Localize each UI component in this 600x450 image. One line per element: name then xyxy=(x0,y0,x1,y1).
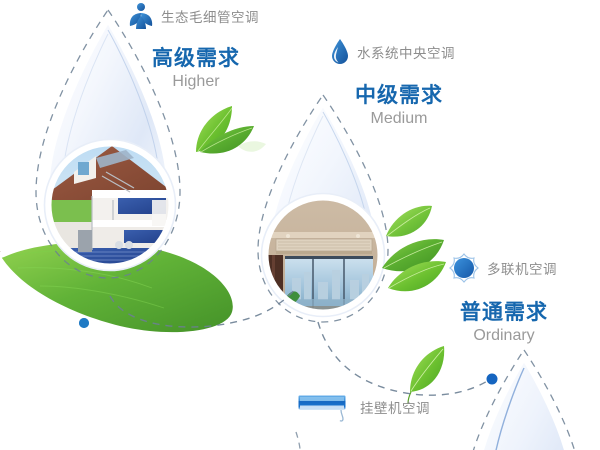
green-leaf-pair xyxy=(196,106,266,154)
tier-medium: 中级需求 Medium xyxy=(355,85,443,127)
product-capillary-label: 生态毛细管空调 xyxy=(161,6,259,26)
product-capillary[interactable]: 生态毛细管空调 xyxy=(128,2,259,30)
water-drop-icon xyxy=(330,38,350,65)
drop-ordinary[interactable] xyxy=(466,350,582,450)
product-water-system[interactable]: 水系统中央空调 xyxy=(330,38,455,65)
tier-higher-cn: 高级需求 xyxy=(152,48,240,69)
tier-ordinary-cn: 普通需求 xyxy=(460,302,548,323)
tier-higher-en: Higher xyxy=(152,74,240,90)
product-wall-ac-label: 挂壁机空调 xyxy=(360,397,430,417)
tier-ordinary-en: Ordinary xyxy=(460,328,548,344)
product-water-system-label: 水系统中央空调 xyxy=(357,42,455,62)
tier-ordinary: 普通需求 Ordinary xyxy=(460,302,548,344)
connector-dot-left xyxy=(79,318,89,328)
graphics-layer xyxy=(0,0,600,450)
tier-medium-cn: 中级需求 xyxy=(355,85,443,106)
tier-higher: 高级需求 Higher xyxy=(152,48,240,90)
product-wall-ac[interactable]: 挂壁机空调 xyxy=(297,392,430,422)
green-leaf-cluster xyxy=(382,206,446,292)
vrf-fan-icon xyxy=(448,252,480,284)
tier-medium-en: Medium xyxy=(355,111,443,127)
wall-ac-unit-icon xyxy=(297,392,353,422)
product-vrf-label: 多联机空调 xyxy=(487,258,557,278)
connector-dot-right xyxy=(487,374,498,385)
drop-medium[interactable] xyxy=(258,95,388,322)
eco-person-icon xyxy=(128,2,154,30)
dashed-tail xyxy=(296,432,300,450)
infographic-canvas: 高级需求 Higher 中级需求 Medium 普通需求 Ordinary 生态… xyxy=(0,0,600,450)
product-vrf[interactable]: 多联机空调 xyxy=(448,252,557,284)
